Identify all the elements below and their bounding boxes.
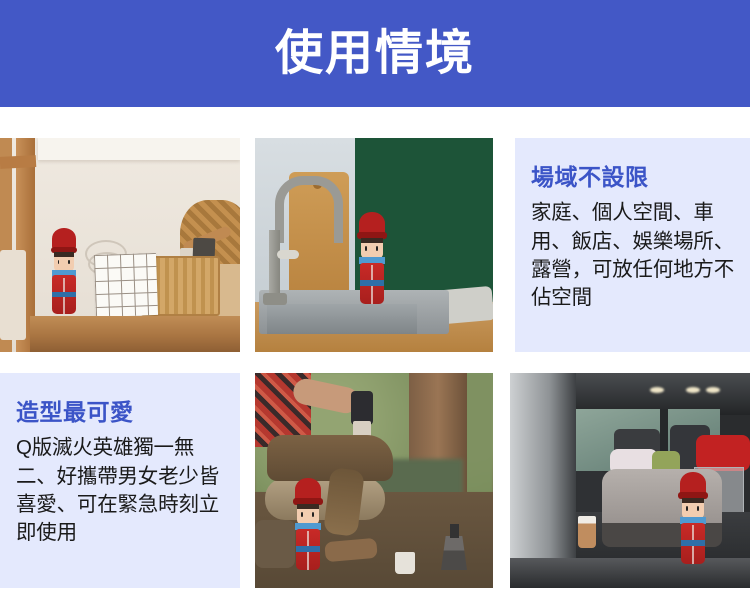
sink-interior [267,304,417,334]
fire-extinguisher-mascot [52,228,76,314]
upper-shelf [38,138,240,160]
page-title: 使用情境 [275,30,475,78]
faucet-stem [269,230,280,302]
mascot-hair [361,238,383,244]
panel-design-heading: 造型最可愛 [16,400,226,425]
mascot-belt [52,292,75,297]
coffee-grinder [351,391,373,425]
ladder-rung [0,155,36,169]
panel-design-body: Q版滅火英雄獨一無二、好攜帶男女老少皆喜愛、可在緊急時刻立即使用 [16,434,226,547]
panel-scope-content: 場域不設限 家庭、個人空間、車用、飯店、娛樂場所、露營，可放任何地方不佔空間 [515,138,750,322]
faucet-base [263,293,287,305]
mascot-eye-left [686,506,688,511]
faucet-handle [277,250,299,259]
mascot-belt [296,546,321,552]
car-trunk-scene [510,373,750,588]
dome-light-1 [650,387,664,393]
mascot-eye-right [312,512,314,517]
moka-pot-lid [450,524,459,538]
leaning-board [0,250,26,340]
use-scenarios-infographic: 使用情境 [0,0,750,608]
photo-kitchen [255,138,493,352]
dome-light-3 [706,387,720,393]
photo-camping [255,373,493,588]
rear-bumper [510,558,750,588]
mascot-eye-right [376,246,378,251]
panel-scope-body: 家庭、個人空間、車用、飯店、娛樂場所、露營，可放任何地方不佔空間 [531,199,736,312]
mascot-belt [681,540,706,546]
photo-trunk [510,373,750,588]
shelf-scene [0,138,240,352]
shelf-board [30,316,240,352]
mascot-eye-left [365,246,367,251]
mascot-belt [360,280,385,286]
mascot-hair [54,252,74,257]
mascot-eye-right [697,506,699,511]
mascot-eye-left [301,512,303,517]
backpack [255,520,295,568]
mascot-hair [682,498,704,504]
panel-scope: 場域不設限 家庭、個人空間、車用、飯店、娛樂場所、露營，可放任何地方不佔空間 [515,138,750,352]
camp-cup [395,552,415,574]
panel-design: 造型最可愛 Q版滅火英雄獨一無二、好攜帶男女老少皆喜愛、可在緊急時刻立即使用 [0,373,240,588]
checkered-cloth [94,253,158,317]
panel-scope-heading: 場域不設限 [531,165,736,190]
faucet-arc [275,176,343,243]
mascot-eye-right [68,260,70,264]
red-jacket [696,435,750,471]
hatch-door [510,373,576,587]
camping-scene [255,373,493,588]
fire-extinguisher-mascot [295,478,321,570]
kitchen-scene [255,138,493,352]
coffee-cup [578,516,596,548]
fire-extinguisher-mascot [680,472,706,564]
panel-design-content: 造型最可愛 Q版滅火英雄獨一無二、好攜帶男女老少皆喜愛、可在緊急時刻立即使用 [0,373,240,557]
dome-light-2 [686,387,700,393]
content-grid: 場域不設限 家庭、個人空間、車用、飯店、娛樂場所、露營，可放任何地方不佔空間 造… [0,138,750,588]
mascot-hair [297,504,319,510]
fire-extinguisher-mascot [359,212,385,304]
header-banner: 使用情境 [0,0,750,107]
photo-shelf [0,138,240,352]
